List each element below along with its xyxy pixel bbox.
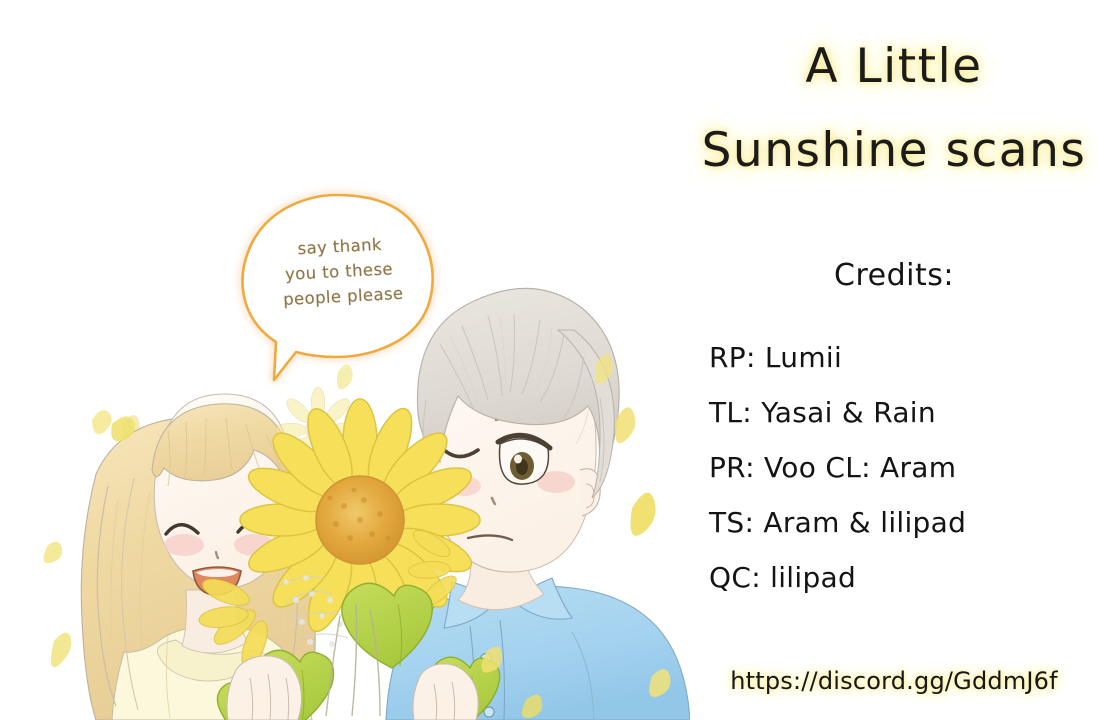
discord-invite-link[interactable]: https://discord.gg/GddmJ6f — [690, 664, 1098, 698]
credit-line-ts: TS: Aram & lilipad — [709, 495, 1098, 550]
credit-line-pr-cl: PR: Voo CL: Aram — [709, 440, 1098, 495]
title-line-2: Sunshine scans — [690, 118, 1098, 184]
credit-line-tl: TL: Yasai & Rain — [709, 385, 1098, 440]
title-line-1: A Little — [690, 34, 1098, 100]
credits-heading: Credits: — [690, 256, 1098, 296]
speech-bubble-text: say thank you to these people please — [256, 230, 426, 314]
scanlation-group-title: A Little Sunshine scans — [690, 34, 1098, 184]
credits-page: say thank you to these people please A L… — [0, 0, 1098, 720]
credits-panel: A Little Sunshine scans Credits: RP: Lum… — [690, 0, 1098, 720]
credit-line-rp: RP: Lumii — [709, 330, 1098, 385]
credit-line-qc: QC: lilipad — [709, 550, 1098, 605]
speech-bubble: say thank you to these people please — [236, 192, 436, 382]
credits-list: RP: Lumii TL: Yasai & Rain PR: Voo CL: A… — [709, 330, 1098, 605]
